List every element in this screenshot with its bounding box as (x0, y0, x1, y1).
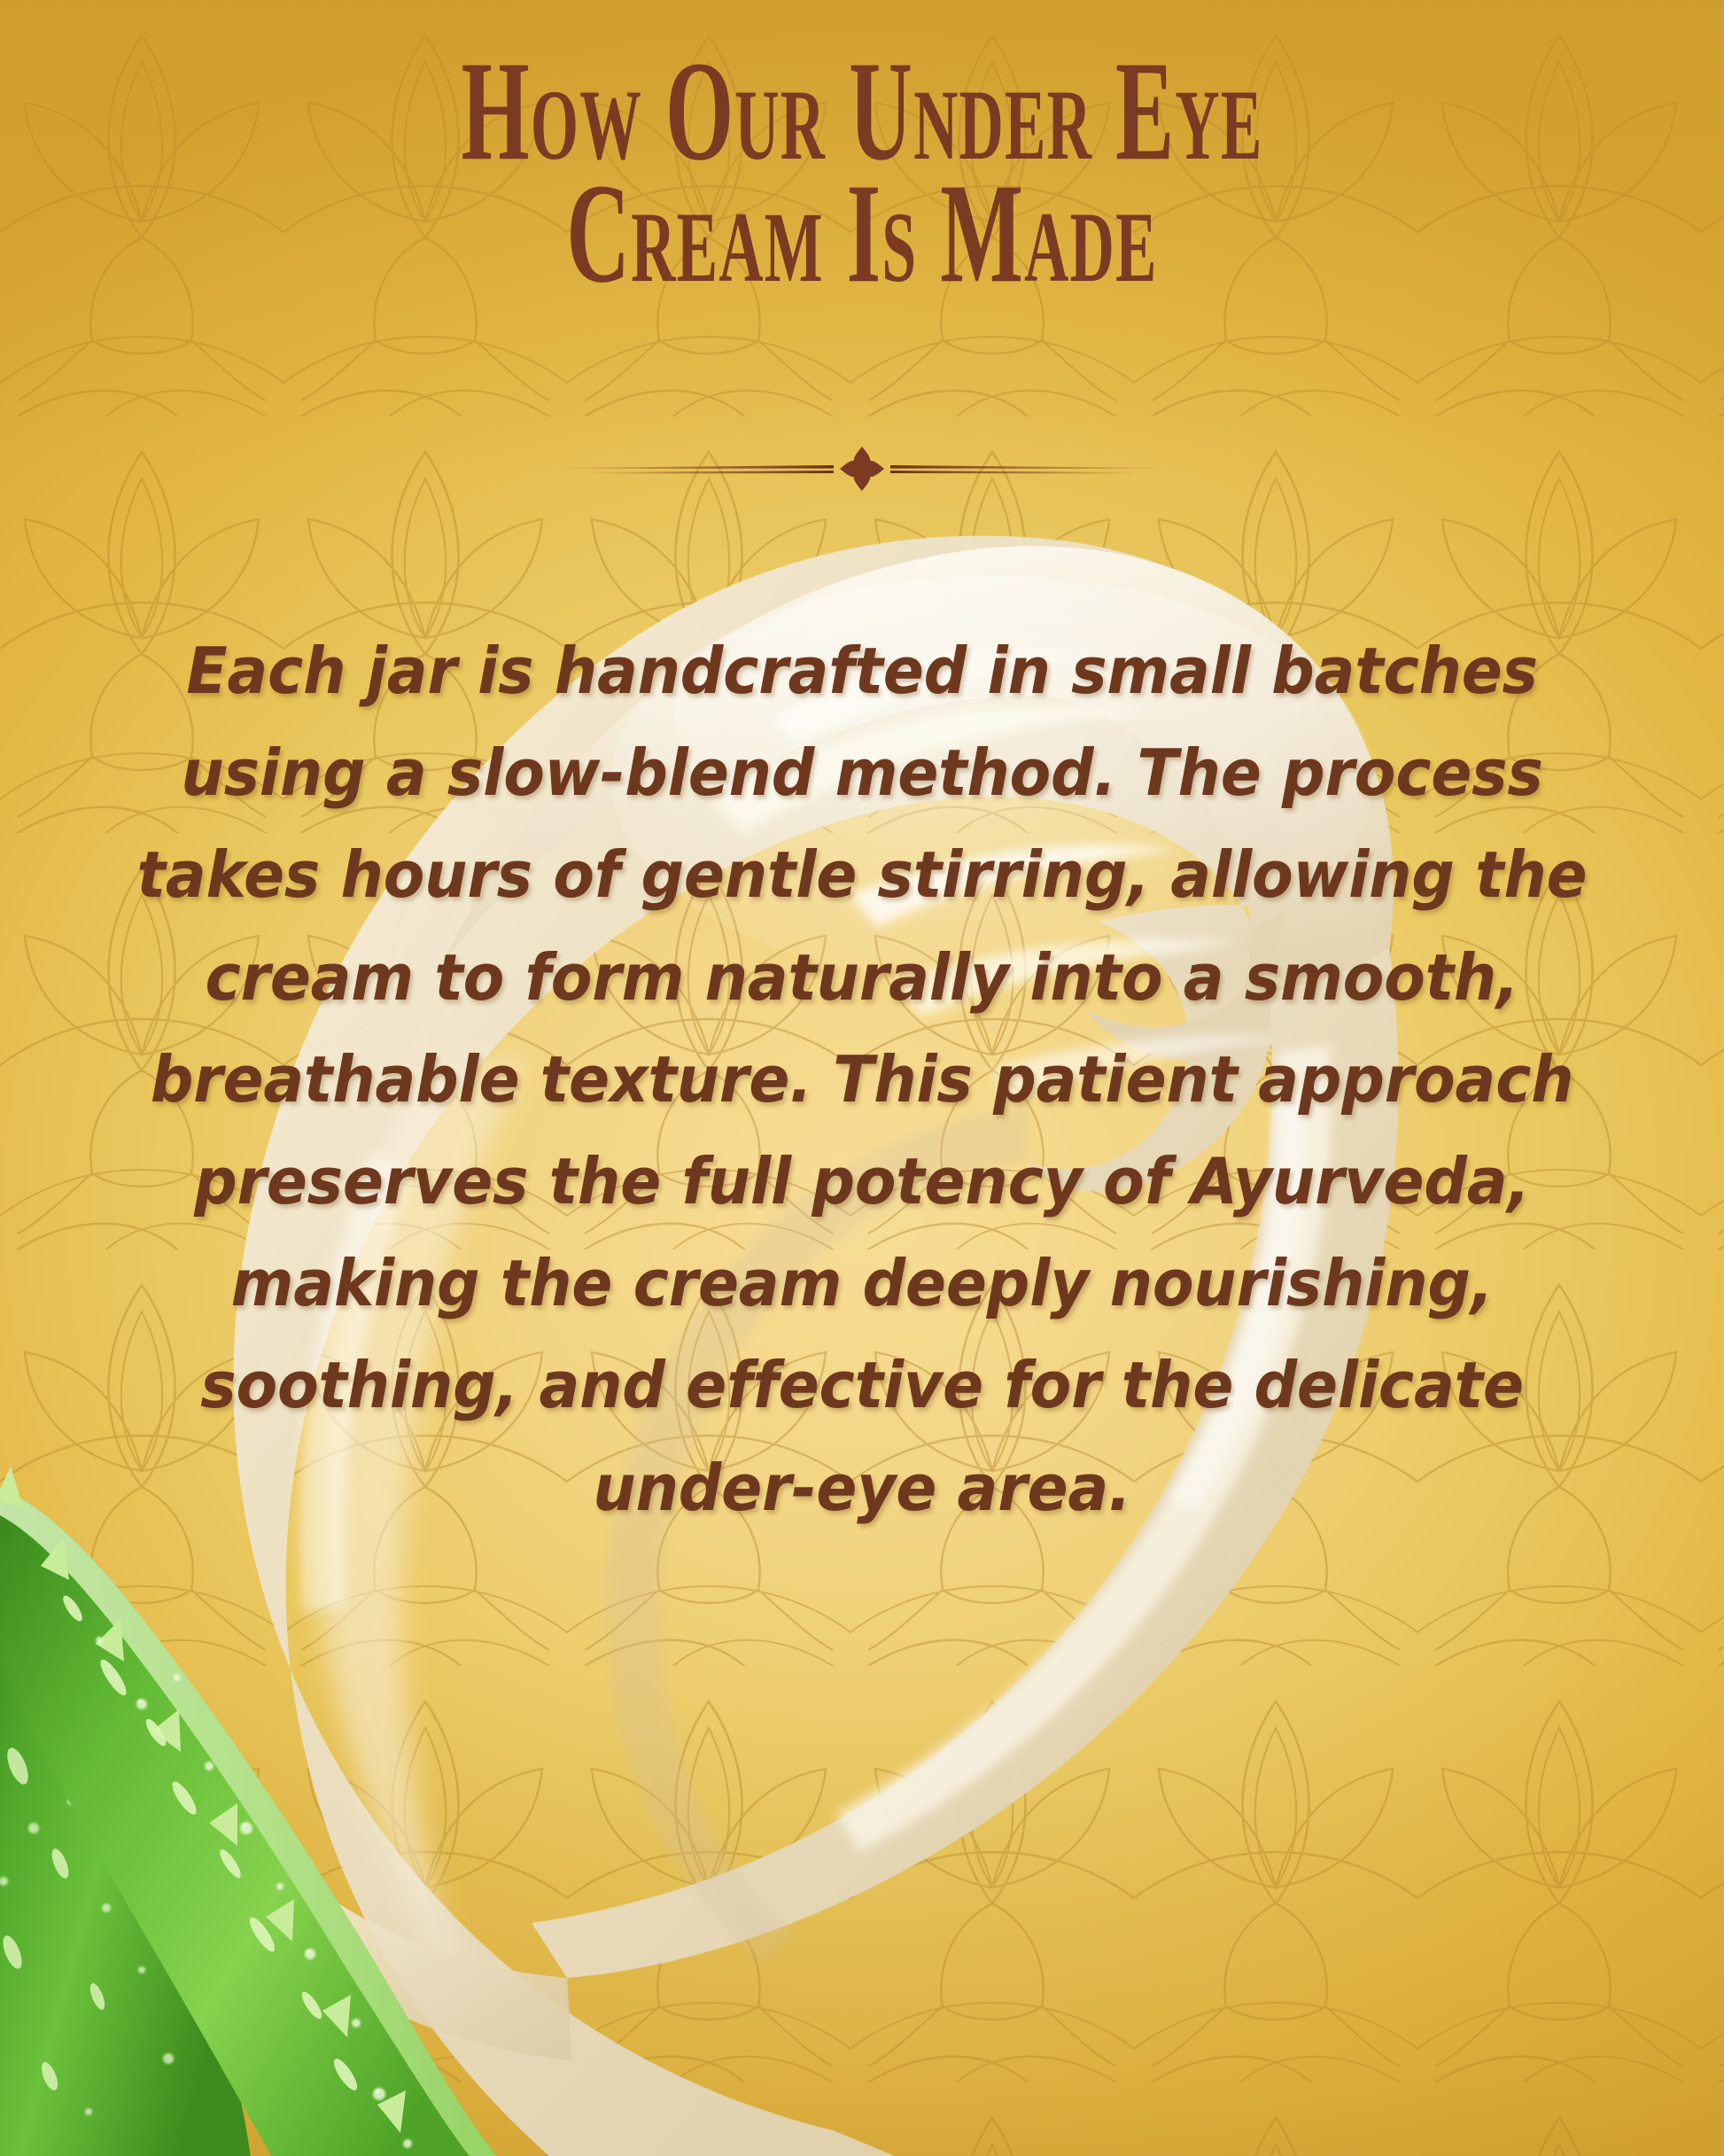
poster-canvas: How Our Under Eye Cream is Made (0, 0, 1724, 2156)
poster-title: How Our Under Eye Cream is Made (0, 39, 1724, 274)
quatrefoil-ornament (840, 447, 884, 491)
title-line-2: Cream is Made (173, 161, 1552, 307)
ornamental-divider (552, 441, 1172, 496)
body-paragraph: Each jar is handcrafted in small batches… (101, 620, 1623, 1539)
